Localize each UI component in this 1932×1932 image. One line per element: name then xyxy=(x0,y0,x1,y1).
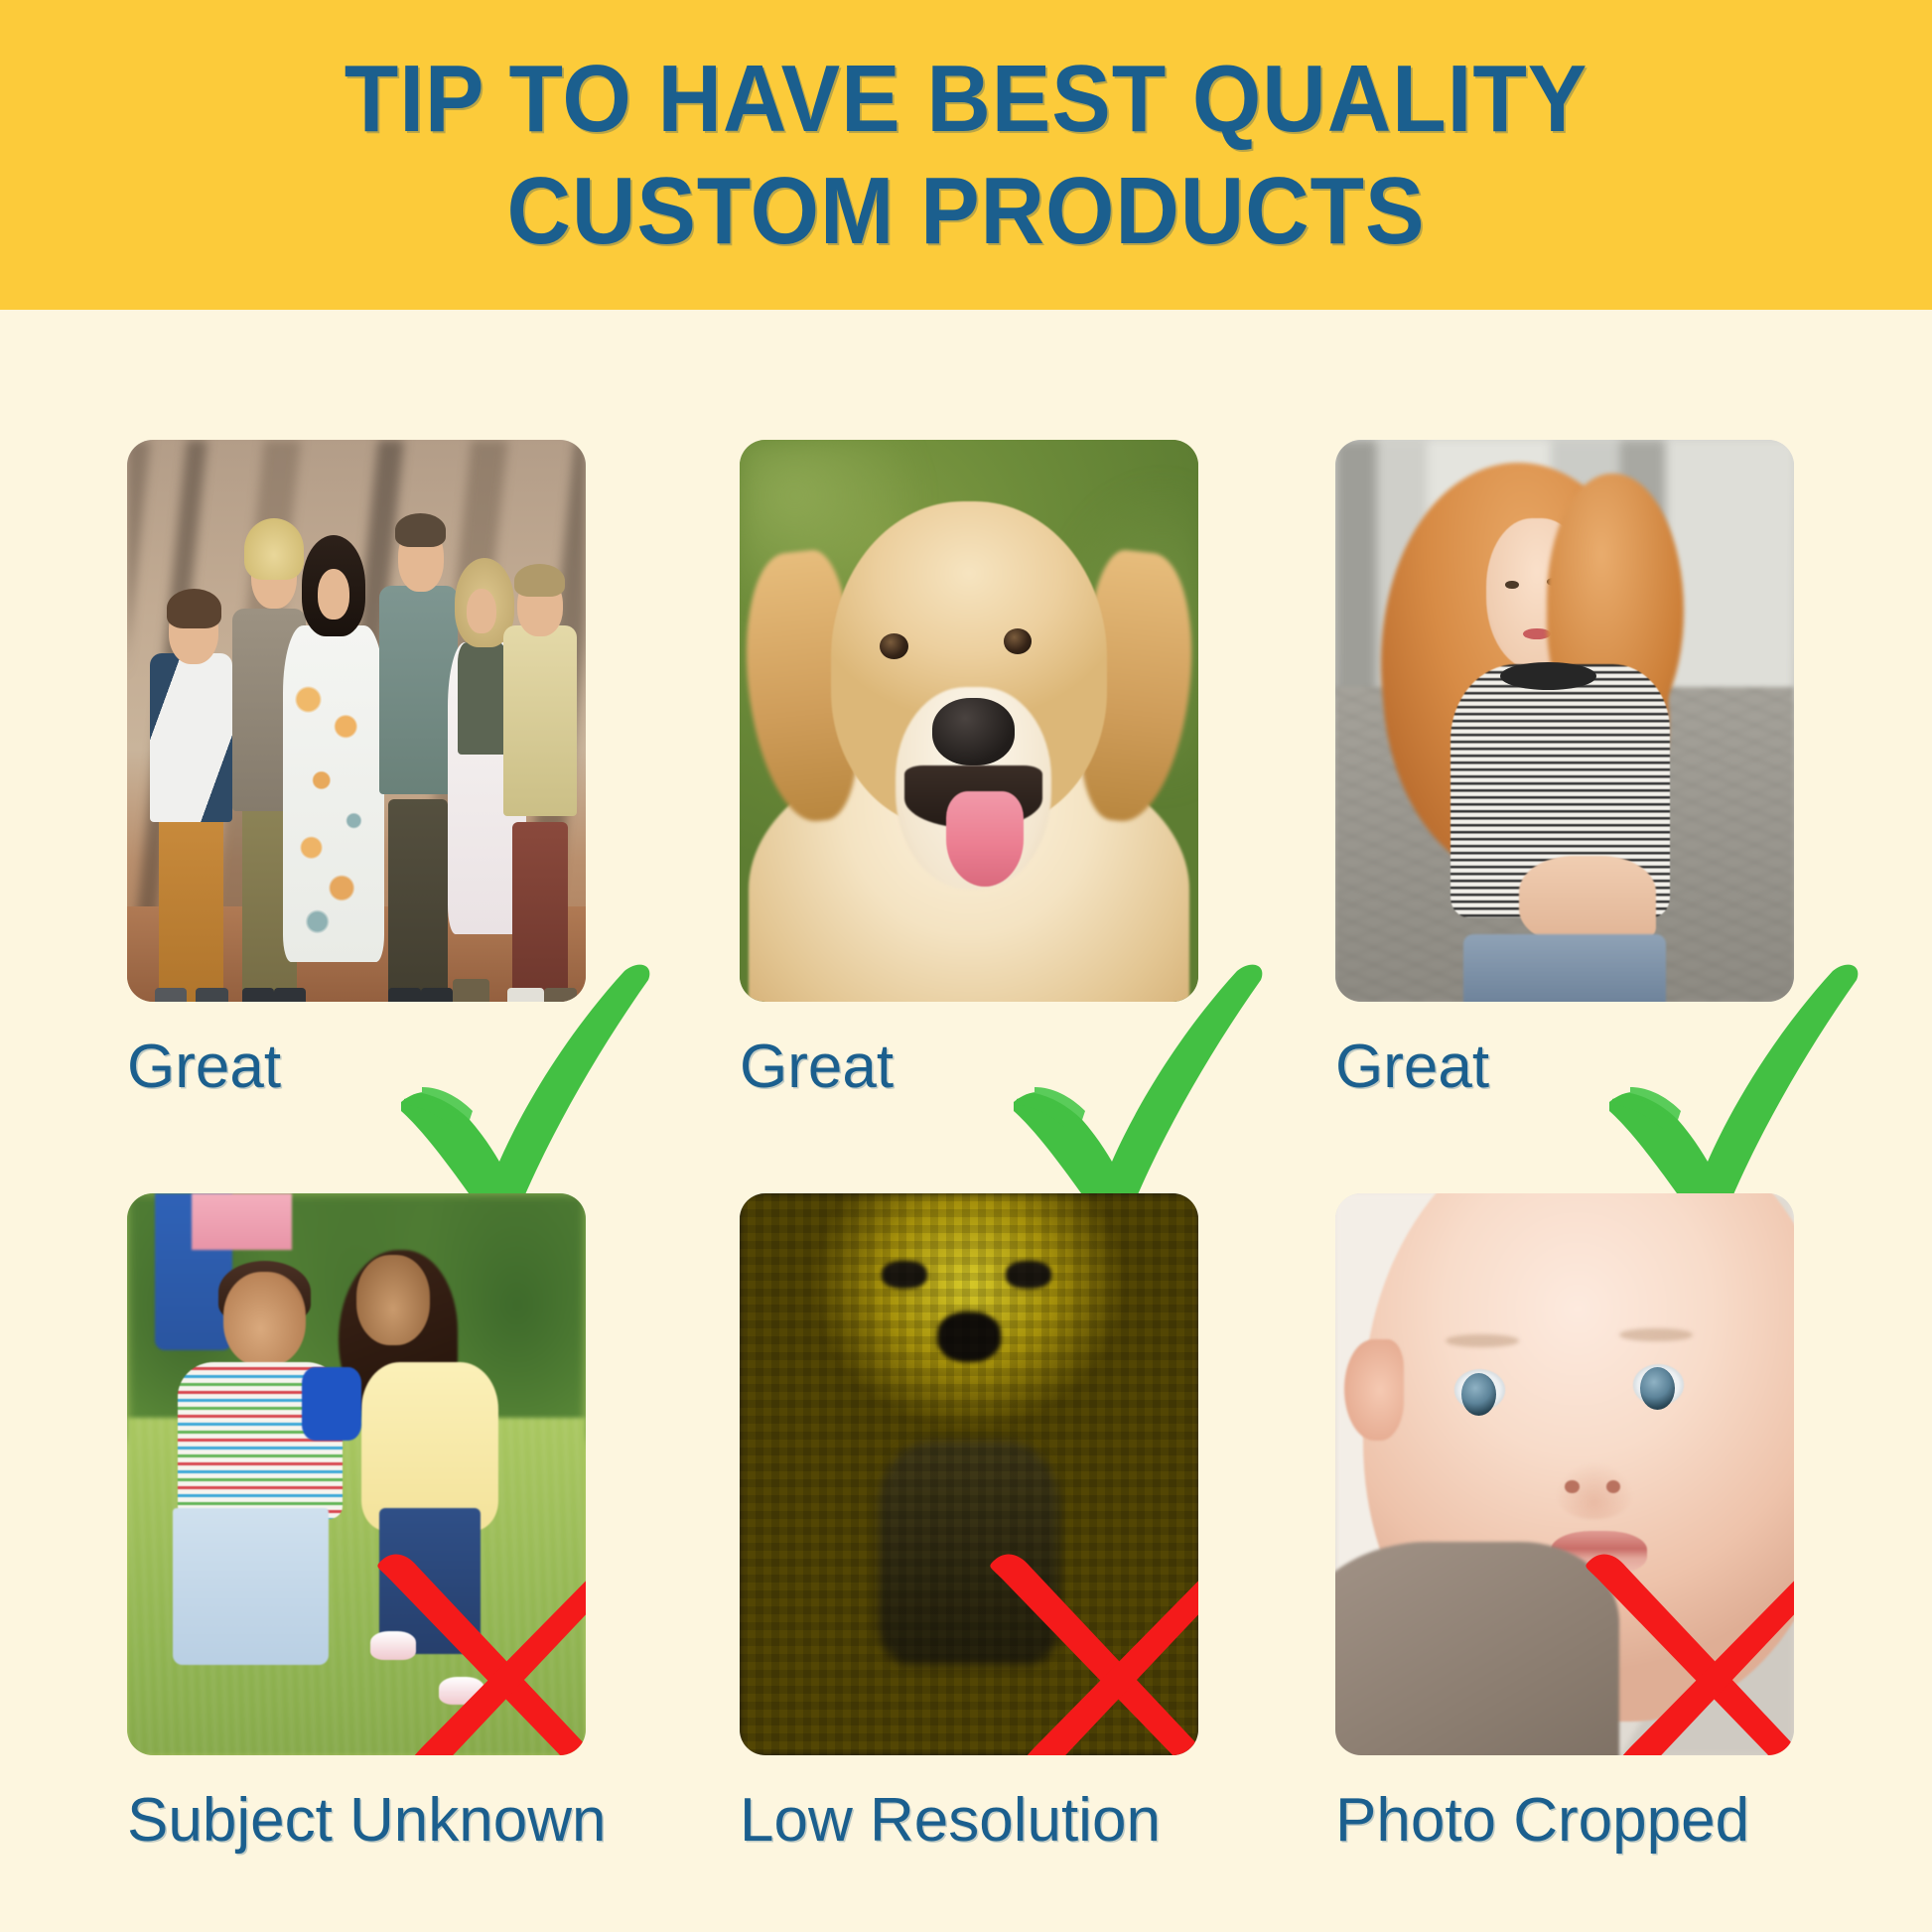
pixelation-overlay xyxy=(740,1193,1198,1755)
photo-card-family[interactable] xyxy=(127,440,586,1002)
header-banner: TIP TO HAVE BEST QUALITY CUSTOM PRODUCTS xyxy=(0,0,1932,310)
caption-kids: Subject Unknown xyxy=(127,1775,586,1864)
caption-baby: Photo Cropped xyxy=(1335,1775,1794,1864)
baby-brow-left xyxy=(1446,1334,1519,1348)
family-photo xyxy=(127,440,586,1002)
dog-tongue xyxy=(946,791,1025,887)
photo-card-golden-retriever[interactable] xyxy=(740,440,1198,1002)
page-title-line-2: CUSTOM PRODUCTS xyxy=(182,155,1751,267)
caption-family: Great xyxy=(127,1022,586,1111)
photo-card-woman[interactable] xyxy=(1335,440,1794,1002)
caption-woman: Great xyxy=(1335,1022,1794,1111)
girl-shoe-left xyxy=(370,1631,416,1659)
woman-jeans xyxy=(1463,934,1665,1002)
page-title-line-1: TIP TO HAVE BEST QUALITY xyxy=(182,43,1751,155)
dog-eye-right xyxy=(1004,628,1033,654)
boy-blue-sleeve xyxy=(302,1367,361,1441)
adult-top xyxy=(192,1193,293,1250)
page-title: TIP TO HAVE BEST QUALITY CUSTOM PRODUCTS xyxy=(182,43,1751,268)
girl-head xyxy=(356,1255,430,1345)
photo-grid: Great Great xyxy=(0,310,1932,1932)
caption-text: Low Resolution xyxy=(740,1785,1161,1856)
baby-ear xyxy=(1344,1339,1404,1441)
baby-body xyxy=(1335,1542,1619,1755)
girl-shoe-right xyxy=(439,1677,484,1705)
woman-collar xyxy=(1500,662,1596,690)
woman-eye-left xyxy=(1505,581,1519,589)
photo-card-low-res-dog[interactable] xyxy=(740,1193,1198,1755)
boy-shorts xyxy=(173,1508,329,1665)
caption-text: Great xyxy=(127,1032,281,1102)
low-res-dog-photo xyxy=(740,1193,1198,1755)
caption-golden-retriever: Great xyxy=(740,1022,1198,1111)
caption-text: Photo Cropped xyxy=(1335,1785,1749,1856)
caption-text: Subject Unknown xyxy=(127,1785,607,1856)
baby-iris-left xyxy=(1461,1373,1496,1416)
boy-head xyxy=(223,1272,306,1367)
baby-nostril-left xyxy=(1565,1480,1580,1494)
caption-text: Great xyxy=(1335,1032,1489,1102)
dog-eye-left xyxy=(880,633,908,659)
kids-playing-photo xyxy=(127,1193,586,1755)
cropped-baby-photo xyxy=(1335,1193,1794,1755)
photo-card-kids[interactable] xyxy=(127,1193,586,1755)
red-haired-woman-photo xyxy=(1335,440,1794,1002)
woman-arm xyxy=(1519,856,1657,946)
caption-text: Great xyxy=(740,1032,894,1102)
caption-low-res-dog: Low Resolution xyxy=(740,1775,1198,1864)
photo-card-baby[interactable] xyxy=(1335,1193,1794,1755)
golden-retriever-photo xyxy=(740,440,1198,1002)
girl-dress xyxy=(361,1362,499,1531)
dog-nose xyxy=(932,698,1015,765)
